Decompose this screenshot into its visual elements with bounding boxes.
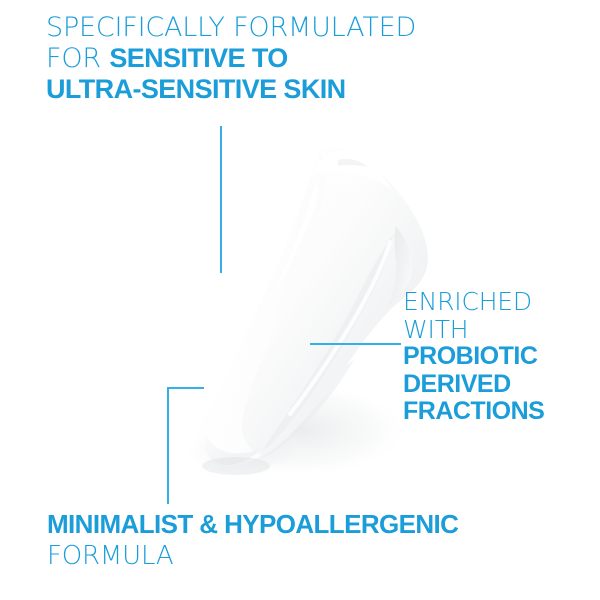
headline-line-1: SPECIFICALLY FORMULATED [46, 12, 416, 43]
headline-callout: SPECIFICALLY FORMULATED FOR SENSITIVE TO… [46, 12, 416, 105]
bottom-callout-line-2: FORMULA [47, 540, 458, 572]
headline-line-2-bold: SENSITIVE TO [109, 43, 287, 73]
right-callout-line-5: FRACTIONS [403, 398, 544, 426]
leader-line-top [220, 126, 222, 273]
right-callout: ENRICHED WITH PROBIOTIC DERIVED FRACTION… [403, 288, 544, 426]
leader-line-bottom-vertical [167, 387, 169, 504]
bottom-callout-line-1: MINIMALIST & HYPOALLERGENIC [47, 508, 458, 540]
infographic-canvas: SPECIFICALLY FORMULATED FOR SENSITIVE TO… [0, 0, 600, 600]
headline-line-3: ULTRA-SENSITIVE SKIN [46, 74, 416, 105]
right-callout-line-4: DERIVED [403, 371, 544, 399]
headline-line-2-light: FOR [46, 43, 109, 74]
leader-line-bottom-horizontal [167, 387, 204, 389]
right-callout-line-2: WITH [403, 316, 544, 344]
leader-line-right [310, 343, 401, 345]
right-callout-line-3: PROBIOTIC [403, 343, 544, 371]
bottom-callout: MINIMALIST & HYPOALLERGENIC FORMULA [47, 508, 458, 572]
right-callout-line-1: ENRICHED [403, 288, 544, 316]
headline-line-2: FOR SENSITIVE TO [46, 43, 416, 74]
